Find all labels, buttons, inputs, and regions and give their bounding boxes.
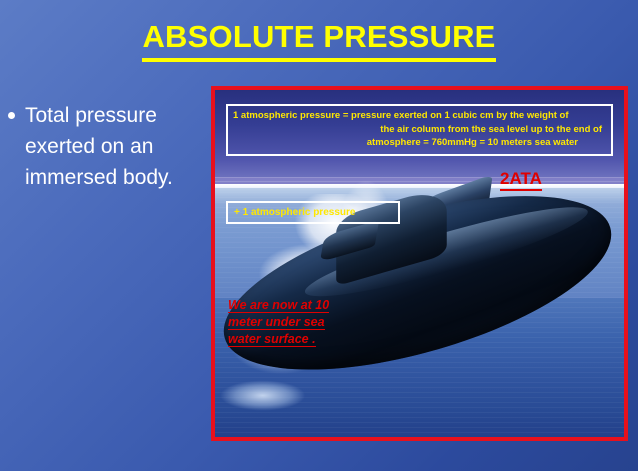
page-title-text: ABSOLUTE PRESSURE	[142, 17, 495, 62]
page-title: ABSOLUTE PRESSURE	[0, 17, 638, 62]
figure-frame: 1 atmospheric pressure = pressure exerte…	[211, 86, 628, 441]
ata-label: 2ATA	[500, 169, 542, 191]
depth-note-text-2: meter under sea	[228, 315, 325, 330]
caption-line-3: atmosphere = 760mmHg = 10 meters sea wat…	[233, 136, 606, 150]
caption-line-1: 1 atmospheric pressure = pressure exerte…	[233, 109, 606, 123]
depth-note-text-1: We are now at 10	[228, 298, 329, 313]
depth-note-line-1: We are now at 10	[228, 297, 348, 314]
depth-note-line-2: meter under sea	[228, 314, 348, 331]
bullet-item-text: Total pressure exerted on an immersed bo…	[25, 100, 208, 193]
depth-note-line-3: water surface .	[228, 331, 348, 348]
atmospheric-caption-box: 1 atmospheric pressure = pressure exerte…	[226, 104, 613, 156]
slide-canvas: ABSOLUTE PRESSURE Total pressure exerted…	[0, 0, 638, 471]
plus-one-atmosphere-text: + 1 atmospheric pressure	[234, 206, 392, 219]
ata-label-text: 2ATA	[500, 169, 542, 191]
plus-one-atmosphere-box: + 1 atmospheric pressure	[226, 201, 400, 224]
bullet-list: Total pressure exerted on an immersed bo…	[8, 100, 208, 193]
caption-line-2: the air column from the sea level up to …	[233, 123, 606, 137]
depth-note-text-3: water surface .	[228, 332, 316, 347]
bullet-dot-icon	[8, 112, 15, 119]
submarine-wake-foam	[215, 375, 321, 417]
depth-note: We are now at 10 meter under sea water s…	[228, 297, 348, 348]
